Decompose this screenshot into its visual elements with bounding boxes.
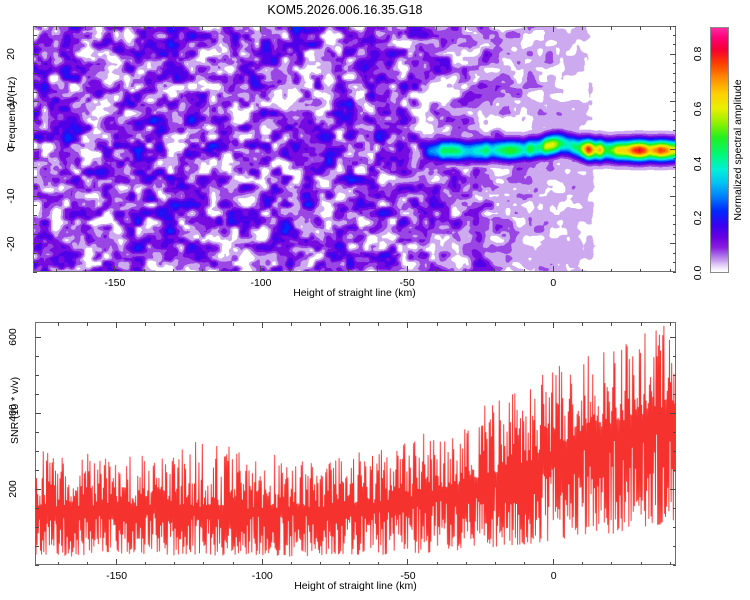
axis-tick	[35, 546, 39, 547]
axis-tick	[466, 562, 467, 566]
axis-tick	[670, 269, 671, 273]
axis-tick	[524, 562, 525, 566]
axis-tick	[348, 269, 349, 273]
axis-tick	[553, 26, 554, 32]
axis-tick	[35, 565, 39, 566]
axis-tick	[35, 375, 39, 376]
axis-tick	[33, 26, 37, 27]
y-tick-label: 200	[7, 480, 19, 498]
axis-tick	[640, 26, 641, 30]
axis-tick	[436, 269, 437, 273]
axis-tick	[673, 234, 677, 235]
axis-tick	[673, 546, 677, 547]
axis-tick	[33, 130, 37, 131]
y-tick-label: 20	[5, 49, 17, 61]
axis-tick	[437, 322, 438, 326]
axis-tick	[673, 451, 677, 452]
snr-canvas	[36, 323, 675, 564]
axis-tick	[611, 562, 612, 566]
axis-tick	[33, 167, 37, 168]
axis-tick	[670, 337, 676, 338]
axis-tick	[611, 26, 612, 30]
axis-tick	[144, 26, 145, 30]
y-tick-label: 600	[7, 328, 19, 346]
axis-tick	[290, 269, 291, 273]
axis-tick	[233, 322, 234, 326]
axis-tick	[33, 139, 37, 140]
axis-tick	[33, 92, 37, 93]
axis-tick	[673, 272, 677, 273]
axis-tick	[670, 54, 676, 55]
axis-tick	[35, 508, 39, 509]
axis-tick	[33, 262, 37, 263]
axis-tick	[407, 26, 408, 32]
axis-tick	[553, 559, 554, 565]
axis-tick	[114, 266, 115, 272]
axis-tick	[673, 470, 677, 471]
axis-tick	[670, 149, 676, 150]
axis-tick	[35, 470, 39, 471]
axis-tick	[58, 322, 59, 326]
axis-tick	[33, 196, 39, 197]
axis-tick	[673, 394, 677, 395]
axis-tick	[33, 73, 37, 74]
axis-tick	[33, 243, 39, 244]
axis-tick	[673, 215, 677, 216]
axis-tick	[260, 266, 261, 272]
axis-tick	[320, 322, 321, 326]
axis-tick	[33, 120, 37, 121]
axis-tick	[673, 253, 677, 254]
axis-tick	[173, 269, 174, 273]
axis-tick	[673, 432, 677, 433]
axis-tick	[465, 269, 466, 273]
colorbar-tick-label: 0.0	[692, 266, 704, 281]
axis-tick	[494, 26, 495, 30]
axis-tick	[582, 26, 583, 30]
axis-tick	[291, 322, 292, 326]
axis-tick	[377, 26, 378, 30]
axis-tick	[673, 508, 677, 509]
axis-tick	[673, 205, 677, 206]
axis-tick	[33, 158, 37, 159]
axis-tick	[670, 413, 676, 414]
axis-tick	[673, 120, 677, 121]
axis-tick	[262, 559, 263, 565]
axis-tick	[673, 35, 677, 36]
axis-tick	[173, 26, 174, 30]
axis-tick	[262, 322, 263, 328]
axis-tick	[582, 269, 583, 273]
colorbar-tick-label: 0.2	[692, 211, 704, 226]
axis-tick	[33, 215, 37, 216]
axis-tick	[582, 562, 583, 566]
spectrogram-plot-area	[33, 26, 676, 272]
axis-tick	[202, 269, 203, 273]
axis-tick	[203, 562, 204, 566]
axis-tick	[673, 375, 677, 376]
axis-tick	[673, 158, 677, 159]
axis-tick	[641, 562, 642, 566]
axis-tick	[116, 322, 117, 328]
axis-tick	[436, 26, 437, 30]
axis-tick	[670, 489, 676, 490]
axis-tick	[35, 489, 41, 490]
axis-tick	[85, 269, 86, 273]
axis-tick	[33, 82, 37, 83]
axis-tick	[231, 26, 232, 30]
y-tick-label: -20	[5, 236, 17, 251]
axis-tick	[670, 26, 671, 30]
axis-tick	[58, 562, 59, 566]
axis-tick	[35, 337, 41, 338]
axis-tick	[377, 269, 378, 273]
axis-tick	[673, 565, 677, 566]
axis-tick	[56, 26, 57, 30]
axis-tick	[553, 322, 554, 328]
axis-tick	[378, 562, 379, 566]
axis-tick	[174, 322, 175, 326]
axis-tick	[673, 186, 677, 187]
axis-tick	[349, 322, 350, 326]
axis-tick	[670, 562, 671, 566]
axis-tick	[145, 562, 146, 566]
axis-tick	[611, 322, 612, 326]
axis-tick	[524, 269, 525, 273]
axis-tick	[144, 269, 145, 273]
axis-tick	[174, 562, 175, 566]
colorbar-gradient	[711, 28, 728, 272]
axis-tick	[320, 562, 321, 566]
axis-tick	[673, 262, 677, 263]
axis-tick	[85, 26, 86, 30]
axis-tick	[673, 527, 677, 528]
axis-tick	[673, 82, 677, 83]
axis-tick	[670, 322, 671, 326]
axis-tick	[673, 167, 677, 168]
axis-tick	[260, 26, 261, 32]
axis-tick	[348, 26, 349, 30]
axis-tick	[673, 356, 677, 357]
axis-tick	[495, 322, 496, 326]
axis-tick	[673, 224, 677, 225]
axis-tick	[673, 26, 677, 27]
colorbar-tick-label: 0.8	[692, 47, 704, 62]
axis-tick	[87, 322, 88, 326]
axis-tick	[87, 562, 88, 566]
axis-tick	[673, 177, 677, 178]
spectrogram-canvas	[34, 27, 675, 271]
axis-tick	[611, 269, 612, 273]
axis-tick	[524, 26, 525, 30]
axis-tick	[33, 44, 37, 45]
axis-tick	[319, 26, 320, 30]
axis-tick	[114, 26, 115, 32]
axis-tick	[33, 234, 37, 235]
axis-tick	[670, 101, 676, 102]
axis-tick	[35, 451, 39, 452]
y-tick-label: -10	[5, 189, 17, 204]
axis-tick	[673, 111, 677, 112]
axis-tick	[673, 92, 677, 93]
axis-tick	[407, 559, 408, 565]
axis-tick	[33, 149, 39, 150]
axis-tick	[33, 253, 37, 254]
axis-tick	[33, 63, 37, 64]
axis-tick	[291, 562, 292, 566]
axis-tick	[465, 26, 466, 30]
axis-tick	[33, 205, 37, 206]
axis-tick	[673, 73, 677, 74]
axis-tick	[495, 562, 496, 566]
axis-tick	[673, 130, 677, 131]
axis-tick	[378, 322, 379, 326]
figure-root: KOM5.2026.006.16.35.G18 -150-100-5002010…	[0, 0, 750, 600]
axis-tick	[553, 266, 554, 272]
axis-tick	[35, 527, 39, 528]
axis-tick	[641, 322, 642, 326]
axis-tick	[673, 44, 677, 45]
axis-tick	[494, 269, 495, 273]
axis-tick	[33, 111, 37, 112]
axis-tick	[33, 224, 37, 225]
axis-tick	[33, 101, 39, 102]
snr-x-axis-label: Height of straight line (km)	[35, 580, 676, 592]
axis-tick	[145, 322, 146, 326]
axis-tick	[673, 139, 677, 140]
axis-tick	[640, 269, 641, 273]
axis-tick	[670, 243, 676, 244]
axis-tick	[524, 322, 525, 326]
spectrogram-x-axis-label: Height of straight line (km)	[33, 287, 676, 299]
colorbar-tick-label: 0.6	[692, 102, 704, 117]
axis-tick	[35, 432, 39, 433]
axis-tick	[33, 186, 37, 187]
axis-tick	[233, 562, 234, 566]
axis-tick	[35, 356, 39, 357]
snr-plot-area	[35, 322, 676, 565]
axis-tick	[582, 322, 583, 326]
page-title: KOM5.2026.006.16.35.G18	[0, 3, 690, 17]
axis-tick	[349, 562, 350, 566]
axis-tick	[407, 266, 408, 272]
axis-tick	[56, 269, 57, 273]
colorbar	[710, 27, 729, 273]
colorbar-axis-label: Normalized spectral amplitude	[729, 27, 747, 273]
axis-tick	[203, 322, 204, 326]
axis-tick	[290, 26, 291, 30]
axis-tick	[231, 269, 232, 273]
axis-tick	[407, 322, 408, 328]
axis-tick	[437, 562, 438, 566]
axis-tick	[33, 35, 37, 36]
axis-tick	[673, 63, 677, 64]
colorbar-tick-label: 0.4	[692, 156, 704, 171]
axis-tick	[116, 559, 117, 565]
axis-tick	[33, 177, 37, 178]
axis-tick	[466, 322, 467, 326]
axis-tick	[670, 196, 676, 197]
axis-tick	[202, 26, 203, 30]
axis-tick	[35, 394, 39, 395]
axis-tick	[35, 413, 41, 414]
axis-tick	[319, 269, 320, 273]
axis-tick	[33, 272, 37, 273]
axis-tick	[33, 54, 39, 55]
